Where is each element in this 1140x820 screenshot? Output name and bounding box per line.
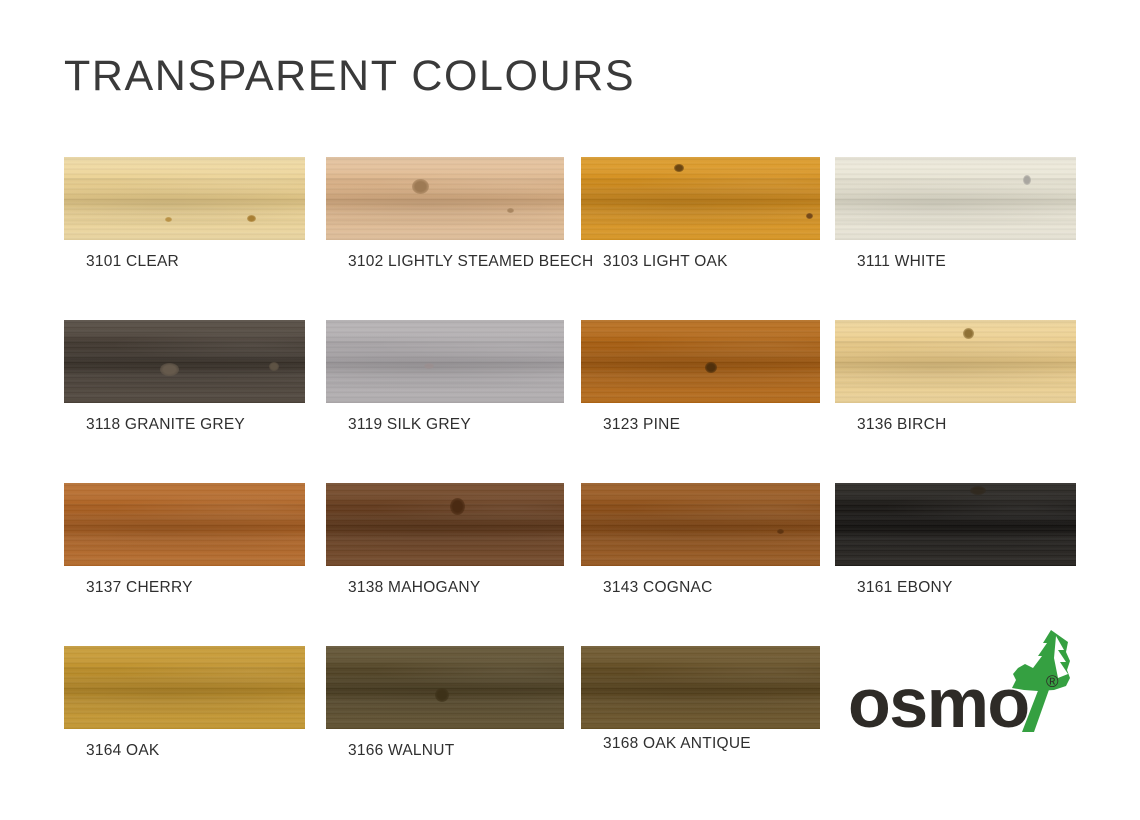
wood-knot	[1023, 175, 1031, 185]
swatch-row: 3118 GRANITE GREY 3119 SILK GREY 3123 PI…	[64, 320, 1076, 483]
swatch-chip[interactable]	[64, 157, 305, 240]
osmo-logo: osmo ®	[848, 628, 1078, 732]
swatch-label: 3111 WHITE	[857, 253, 946, 271]
colour-chart-page: TRANSPARENT COLOURS 3101 CLEAR 3102 LIGH…	[0, 0, 1140, 820]
wood-figure-texture	[835, 157, 1076, 240]
swatch-chip[interactable]	[581, 320, 820, 403]
tree-shape	[1012, 630, 1070, 691]
swatch-cell-3168[interactable]: 3168 OAK ANTIQUE	[581, 646, 825, 729]
wood-grain-texture	[835, 157, 1076, 240]
swatch-label: 3103 LIGHT OAK	[603, 253, 728, 271]
wood-figure-texture	[326, 646, 564, 729]
page-title: TRANSPARENT COLOURS	[64, 52, 635, 101]
wood-figure-texture	[326, 483, 564, 566]
swatch-chip[interactable]	[326, 320, 564, 403]
wood-grain-texture	[581, 483, 820, 566]
wood-knot	[269, 362, 279, 371]
wood-knot	[806, 213, 813, 219]
wood-grain-texture	[64, 483, 305, 566]
wood-knot	[450, 498, 465, 515]
swatch-cell-3111[interactable]: 3111 WHITE	[835, 157, 1079, 240]
wood-knot	[507, 208, 514, 213]
swatch-chip[interactable]	[835, 483, 1076, 566]
wood-knot	[970, 486, 986, 495]
wood-figure-texture	[64, 157, 305, 240]
swatch-chip[interactable]	[64, 483, 305, 566]
swatch-cell-3136[interactable]: 3136 BIRCH	[835, 320, 1079, 403]
swatch-cell-3164[interactable]: 3164 OAK	[64, 646, 308, 729]
swatch-cell-3119[interactable]: 3119 SILK GREY	[326, 320, 570, 403]
swatch-chip[interactable]	[835, 320, 1076, 403]
wood-grain-texture	[835, 483, 1076, 566]
swatch-label: 3119 SILK GREY	[348, 416, 471, 434]
wood-figure-texture	[581, 320, 820, 403]
wood-figure-texture	[64, 320, 305, 403]
wood-figure-texture	[581, 157, 820, 240]
swatch-label: 3143 COGNAC	[603, 579, 713, 597]
swatch-label: 3123 PINE	[603, 416, 680, 434]
swatch-label: 3101 CLEAR	[86, 253, 179, 271]
swatch-label: 3137 CHERRY	[86, 579, 193, 597]
wood-figure-texture	[326, 320, 564, 403]
wood-knot	[424, 363, 434, 369]
swatch-chip[interactable]	[581, 157, 820, 240]
wood-figure-texture	[581, 646, 820, 729]
swatch-label: 3136 BIRCH	[857, 416, 947, 434]
wood-grain-texture	[326, 646, 564, 729]
wood-figure-texture	[835, 320, 1076, 403]
swatch-chip[interactable]	[326, 646, 564, 729]
wood-figure-texture	[326, 157, 564, 240]
swatch-label: 3161 EBONY	[857, 579, 953, 597]
wood-grain-texture	[581, 320, 820, 403]
swatch-cell-3123[interactable]: 3123 PINE	[581, 320, 825, 403]
swatch-cell-3103[interactable]: 3103 LIGHT OAK	[581, 157, 825, 240]
swatch-label: 3102 LIGHTLY STEAMED BEECH	[348, 253, 593, 271]
wood-knot	[412, 179, 429, 194]
swatch-cell-3101[interactable]: 3101 CLEAR	[64, 157, 308, 240]
wood-figure-texture	[581, 483, 820, 566]
wood-knot	[435, 688, 449, 702]
swatch-chip[interactable]	[581, 483, 820, 566]
wood-knot	[160, 363, 179, 376]
wood-figure-texture	[64, 483, 305, 566]
wood-knot	[963, 328, 974, 339]
conifer-tree-icon	[994, 628, 1078, 732]
wood-figure-texture	[835, 483, 1076, 566]
swatch-chip[interactable]	[64, 646, 305, 729]
swatch-row: 3137 CHERRY 3138 MAHOGANY 3143 COGNAC	[64, 483, 1076, 646]
swatch-cell-3161[interactable]: 3161 EBONY	[835, 483, 1079, 566]
swatch-chip[interactable]	[835, 157, 1076, 240]
swatch-chip[interactable]	[64, 320, 305, 403]
swatch-label: 3168 OAK ANTIQUE	[603, 735, 751, 753]
swatch-cell-3118[interactable]: 3118 GRANITE GREY	[64, 320, 308, 403]
swatch-label: 3138 MAHOGANY	[348, 579, 480, 597]
wood-knot	[674, 164, 684, 172]
wood-grain-texture	[581, 157, 820, 240]
wood-grain-texture	[64, 646, 305, 729]
wood-knot	[777, 529, 784, 534]
wood-grain-texture	[64, 320, 305, 403]
swatch-cell-3138[interactable]: 3138 MAHOGANY	[326, 483, 570, 566]
swatch-label: 3166 WALNUT	[348, 742, 454, 760]
swatch-label: 3164 OAK	[86, 742, 160, 760]
swatch-chip[interactable]	[581, 646, 820, 729]
wood-grain-texture	[835, 320, 1076, 403]
swatch-cell-3102[interactable]: 3102 LIGHTLY STEAMED BEECH	[326, 157, 570, 240]
swatch-row: 3101 CLEAR 3102 LIGHTLY STEAMED BEECH 31…	[64, 157, 1076, 320]
wood-grain-texture	[326, 157, 564, 240]
wood-knot	[705, 362, 717, 373]
wood-figure-texture	[64, 646, 305, 729]
wood-grain-texture	[64, 157, 305, 240]
swatch-cell-3137[interactable]: 3137 CHERRY	[64, 483, 308, 566]
swatch-chip[interactable]	[326, 157, 564, 240]
registered-trademark-icon: ®	[1046, 672, 1059, 692]
swatch-label: 3118 GRANITE GREY	[86, 416, 245, 434]
wood-knot	[247, 215, 256, 222]
swatch-chip[interactable]	[326, 483, 564, 566]
wood-grain-texture	[326, 320, 564, 403]
wood-knot	[165, 217, 172, 222]
swatch-cell-3166[interactable]: 3166 WALNUT	[326, 646, 570, 729]
wood-grain-texture	[326, 483, 564, 566]
swatch-cell-3143[interactable]: 3143 COGNAC	[581, 483, 825, 566]
wood-grain-texture	[581, 646, 820, 729]
